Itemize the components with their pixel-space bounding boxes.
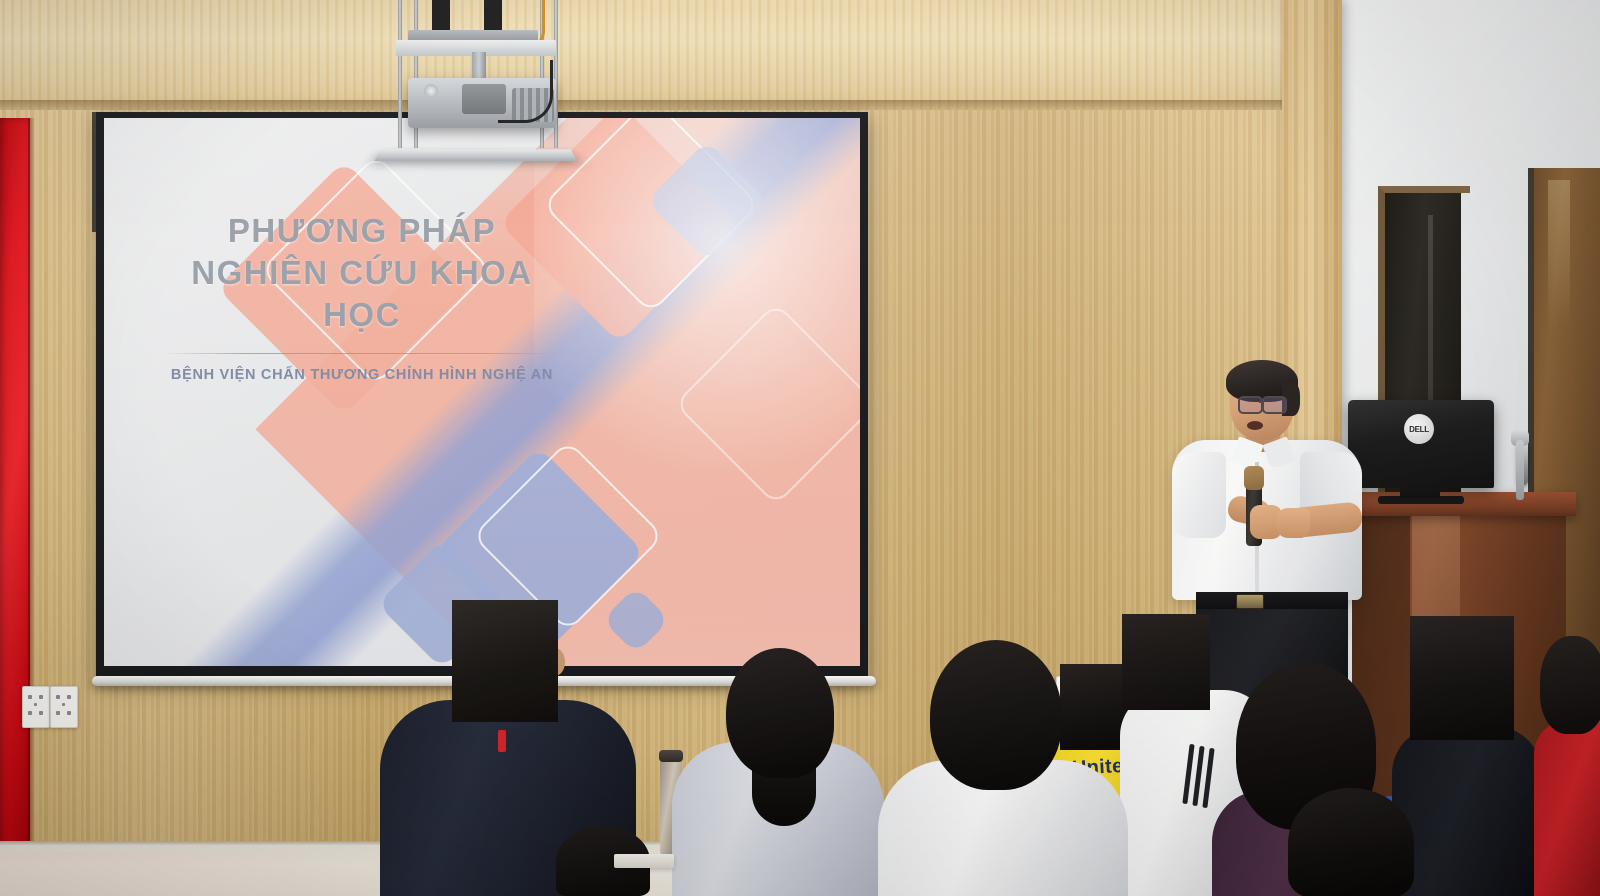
wall-socket-left-a[interactable] <box>22 686 50 728</box>
dell-logo-icon: DELL <box>1404 414 1434 444</box>
speaker-mouth <box>1247 421 1263 430</box>
red-wall-panel <box>0 118 30 858</box>
audience-body-red <box>1534 720 1600 896</box>
audience-head-red <box>1540 636 1600 734</box>
audience-head-white <box>930 640 1062 790</box>
projector-lens <box>424 84 438 98</box>
speaker-glasses-bridge <box>1259 401 1264 403</box>
speaker-glasses-left-lens <box>1238 396 1263 414</box>
wall-socket-left-b[interactable] <box>50 686 78 728</box>
conference-room-photo: PHƯƠNG PHÁP NGHIÊN CỨU KHOA HỌC BỆNH VIỆ… <box>0 0 1600 896</box>
slide-subtitle: BỆNH VIỆN CHẤN THƯƠNG CHỈNH HÌNH NGHỆ AN <box>152 367 572 383</box>
slide-text-block: PHƯƠNG PHÁP NGHIÊN CỨU KHOA HỌC BỆNH VIỆ… <box>152 210 572 383</box>
speaker-left-sleeve <box>1172 452 1226 538</box>
slide-projector-glow <box>534 118 860 498</box>
slide-title-line-2: NGHIÊN CỨU KHOA HỌC <box>152 252 572 336</box>
slide-title-line-1: PHƯƠNG PHÁP <box>152 210 572 252</box>
red-panel-edge <box>28 118 35 858</box>
audience-head-navy <box>452 600 558 722</box>
water-bottle-cap <box>659 750 683 762</box>
audience-head-striped <box>1122 614 1210 710</box>
audience-head-grey <box>726 648 834 778</box>
projector-mount-stem <box>472 52 486 80</box>
table-edge-left <box>614 854 674 868</box>
audience-body-dark-navy <box>1392 726 1542 896</box>
handheld-microphone-head <box>1244 466 1264 490</box>
audience-shirt-logo <box>498 730 506 752</box>
speaker-belt-buckle <box>1236 594 1264 609</box>
projector-rod-1 <box>398 0 402 148</box>
podium-microphone <box>1516 440 1524 500</box>
projector-ceiling-plate <box>374 149 577 161</box>
audience-head-dark-navy <box>1410 616 1514 740</box>
speaker-glasses-right-lens <box>1262 396 1287 414</box>
projector-signal-cable <box>498 60 553 123</box>
projection-screen-surface: PHƯƠNG PHÁP NGHIÊN CỨU KHOA HỌC BỆNH VIỆ… <box>104 118 860 666</box>
speaker-belt <box>1196 592 1348 609</box>
slide-divider <box>167 353 557 354</box>
speaker-right-hand <box>1276 508 1310 538</box>
door-highlight <box>1548 180 1570 330</box>
dell-logo-text: DELL <box>1409 425 1429 434</box>
audience-head-foreground-center <box>1288 788 1414 896</box>
